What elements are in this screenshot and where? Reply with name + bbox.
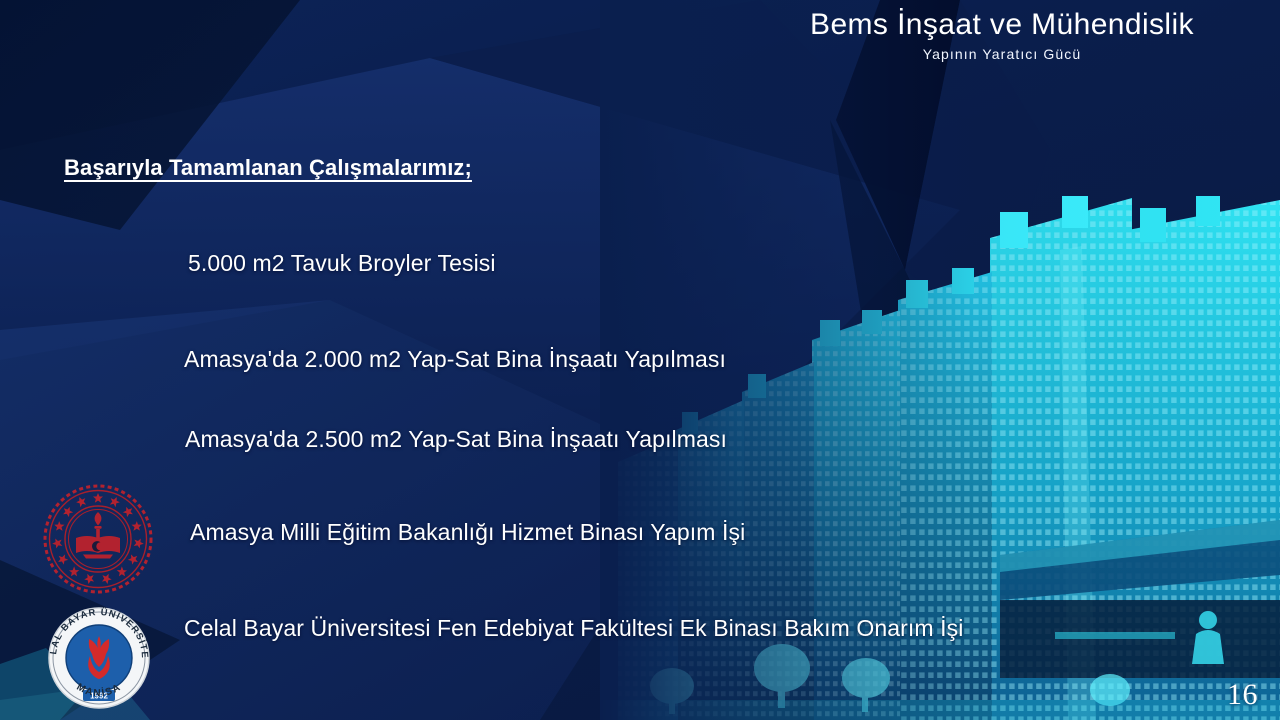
presentation-slide: Bems İnşaat ve Mühendislik Yapının Yarat…	[0, 0, 1280, 720]
meb-logo	[38, 483, 158, 595]
company-tagline: Yapının Yaratıcı Gücü	[792, 46, 1212, 62]
company-brand-block: Bems İnşaat ve Mühendislik Yapının Yarat…	[792, 8, 1212, 62]
project-item-3: Amasya'da 2.500 m2 Yap-Sat Bina İnşaatı …	[185, 424, 727, 454]
celal-bayar-universitesi-logo: 1992 CELAL BAYAR ÜNİVERSİTESİ MANİSA	[38, 602, 160, 714]
company-name: Bems İnşaat ve Mühendislik	[792, 8, 1212, 43]
section-heading: Başarıyla Tamamlanan Çalışmalarımız;	[64, 155, 472, 181]
project-item-4: Amasya Milli Eğitim Bakanlığı Hizmet Bin…	[190, 517, 745, 547]
project-item-2: Amasya'da 2.000 m2 Yap-Sat Bina İnşaatı …	[184, 344, 726, 374]
project-item-1: 5.000 m2 Tavuk Broyler Tesisi	[188, 248, 496, 278]
page-number: 16	[1227, 678, 1258, 712]
project-item-5: Celal Bayar Üniversitesi Fen Edebiyat Fa…	[184, 613, 974, 643]
